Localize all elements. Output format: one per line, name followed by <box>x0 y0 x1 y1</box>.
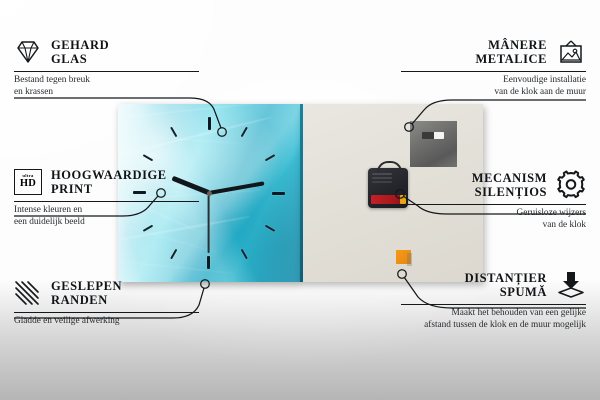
callout-ground-edges: GESLEPEN RANDEN Gladde en veilige afwerk… <box>14 279 199 328</box>
callout-silent-mechanism: MECANISM SILENȚIOS Geruisloze wijzers va… <box>401 170 586 232</box>
callout-header: GESLEPEN RANDEN <box>14 279 199 307</box>
callout-title: MECANISM SILENȚIOS <box>472 171 547 199</box>
callout-rule <box>401 304 586 305</box>
callout-title: HOOGWAARDIGE PRINT <box>51 168 167 196</box>
callout-header: GEHARD GLAS <box>14 38 199 66</box>
callout-desc-line1: Maakt het behouden van een gelijke <box>401 308 586 320</box>
callout-rule <box>14 312 199 313</box>
infographic-canvas: GEHARD GLAS Bestand tegen breuk en krass… <box>0 0 600 400</box>
callout-rule <box>14 201 199 202</box>
leader-endpoint-tempered-glass <box>218 128 227 137</box>
callout-desc-line2: van de klok aan de muur <box>401 87 586 99</box>
callout-hd-print: ultra HD HOOGWAARDIGE PRINT Intense kleu… <box>14 168 199 229</box>
leader-line-tempered-glass <box>14 98 221 128</box>
callout-desc-line1: Eenvoudige installatie <box>401 75 586 87</box>
callout-title: MÂNERE METALICE <box>475 38 547 66</box>
picture-frame-icon <box>556 39 586 66</box>
callout-desc-line1: Bestand tegen breuk <box>14 75 199 87</box>
callout-desc-line1: Intense kleuren en <box>14 205 199 217</box>
callout-title: GEHARD GLAS <box>51 38 109 66</box>
callout-desc-line2: afstand tussen de klok en de muur mogeli… <box>401 320 586 332</box>
callout-title: DISTANȚIER SPUMĂ <box>465 271 547 299</box>
callout-header: DISTANȚIER SPUMĂ <box>401 270 586 299</box>
down-arrow-pad-icon <box>556 270 586 299</box>
callout-header: ultra HD HOOGWAARDIGE PRINT <box>14 168 199 196</box>
ultra-hd-icon: ultra HD <box>14 169 42 195</box>
callout-desc-line2: een duidelijk beeld <box>14 217 199 229</box>
callout-header: MECANISM SILENȚIOS <box>401 170 586 199</box>
callout-metal-handles: MÂNERE METALICE Eenvoudige installatie v… <box>401 38 586 99</box>
leader-endpoint-ground-edges <box>201 280 210 289</box>
callout-desc-line1: Geruisloze wijzers <box>401 208 586 220</box>
callout-foam-spacer: DISTANȚIER SPUMĂ Maakt het behouden van … <box>401 270 586 332</box>
gear-icon <box>556 170 586 199</box>
callout-tempered-glass: GEHARD GLAS Bestand tegen breuk en krass… <box>14 38 199 99</box>
callout-desc-line2: van de klok <box>401 220 586 232</box>
callout-header: MÂNERE METALICE <box>401 38 586 66</box>
callout-rule <box>401 204 586 205</box>
callout-rule <box>401 71 586 72</box>
callout-desc-line1: Gladde en veilige afwerking <box>14 316 199 328</box>
leader-line-metal-handles <box>412 100 586 124</box>
callout-desc-line2: en krassen <box>14 87 199 99</box>
ultra-hd-icon-main-text: HD <box>20 179 36 190</box>
diagonal-lines-icon <box>14 280 42 307</box>
callout-rule <box>14 71 199 72</box>
leader-endpoint-metal-handles <box>405 123 414 132</box>
callout-title: GESLEPEN RANDEN <box>51 279 122 307</box>
diamond-icon <box>14 39 42 65</box>
